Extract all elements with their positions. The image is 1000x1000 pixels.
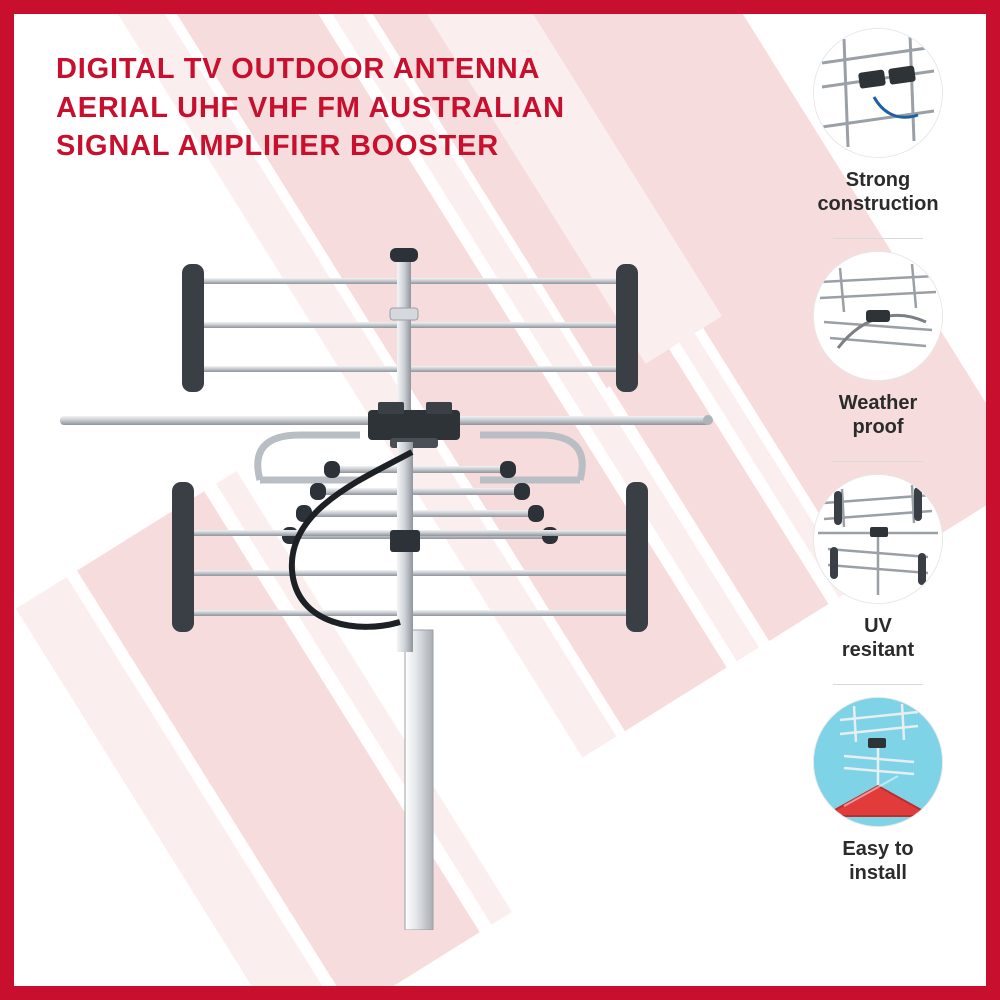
- feature-label-line1: Easy to: [842, 838, 913, 860]
- frame-border-bottom: [0, 986, 1000, 1000]
- feature-label-strong-construction: Strong construction: [817, 168, 938, 216]
- feature-item-strong-construction: Strong construction: [778, 28, 978, 216]
- feature-label-line2: resitant: [842, 639, 914, 661]
- mast-clamp: [390, 530, 420, 552]
- amplifier-box: [368, 402, 460, 448]
- title-line-1: DIGITAL TV OUTDOOR ANTENNA: [56, 50, 696, 89]
- frame-border-left: [0, 0, 14, 1000]
- antenna-frame-icon: [813, 474, 943, 604]
- feature-label-line1: Strong: [846, 169, 910, 191]
- title-line-3: SIGNAL AMPLIFIER BOOSTER: [56, 127, 696, 166]
- antenna-roof-icon: [813, 697, 943, 827]
- uhf-loop-left: [258, 435, 360, 480]
- feature-label-line1: Weather: [839, 392, 918, 414]
- antenna-boom-icon: [813, 251, 943, 381]
- feature-label-uv-resitant: UV resitant: [842, 614, 914, 662]
- product-banner: DIGITAL TV OUTDOOR ANTENNA AERIAL UHF VH…: [0, 0, 1000, 1000]
- mast: [405, 630, 433, 930]
- feature-separator-1: [833, 238, 923, 239]
- uhf-loop-right: [480, 435, 582, 480]
- page-title: DIGITAL TV OUTDOOR ANTENNA AERIAL UHF VH…: [56, 50, 696, 166]
- feature-label-line2: construction: [817, 193, 938, 215]
- frame-border-right: [986, 0, 1000, 1000]
- title-line-2: AERIAL UHF VHF FM AUSTRALIAN: [56, 89, 696, 128]
- feature-label-line2: proof: [852, 416, 903, 438]
- feature-separator-3: [833, 684, 923, 685]
- feature-item-weather-proof: Weather proof: [778, 251, 978, 439]
- feature-item-uv-resitant: UV resitant: [778, 474, 978, 662]
- feature-label-line1: UV: [864, 615, 892, 637]
- antenna-closeup-icon: [813, 28, 943, 158]
- feature-separator-2: [833, 461, 923, 462]
- feature-label-weather-proof: Weather proof: [839, 391, 918, 439]
- feature-list: Strong construction: [778, 28, 978, 893]
- feature-item-easy-to-install: Easy to install: [778, 697, 978, 885]
- feature-label-line2: install: [849, 862, 907, 884]
- product-image: [60, 230, 780, 930]
- frame-border-top: [0, 0, 1000, 14]
- antenna-illustration: [60, 230, 780, 930]
- feature-label-easy-to-install: Easy to install: [842, 837, 913, 885]
